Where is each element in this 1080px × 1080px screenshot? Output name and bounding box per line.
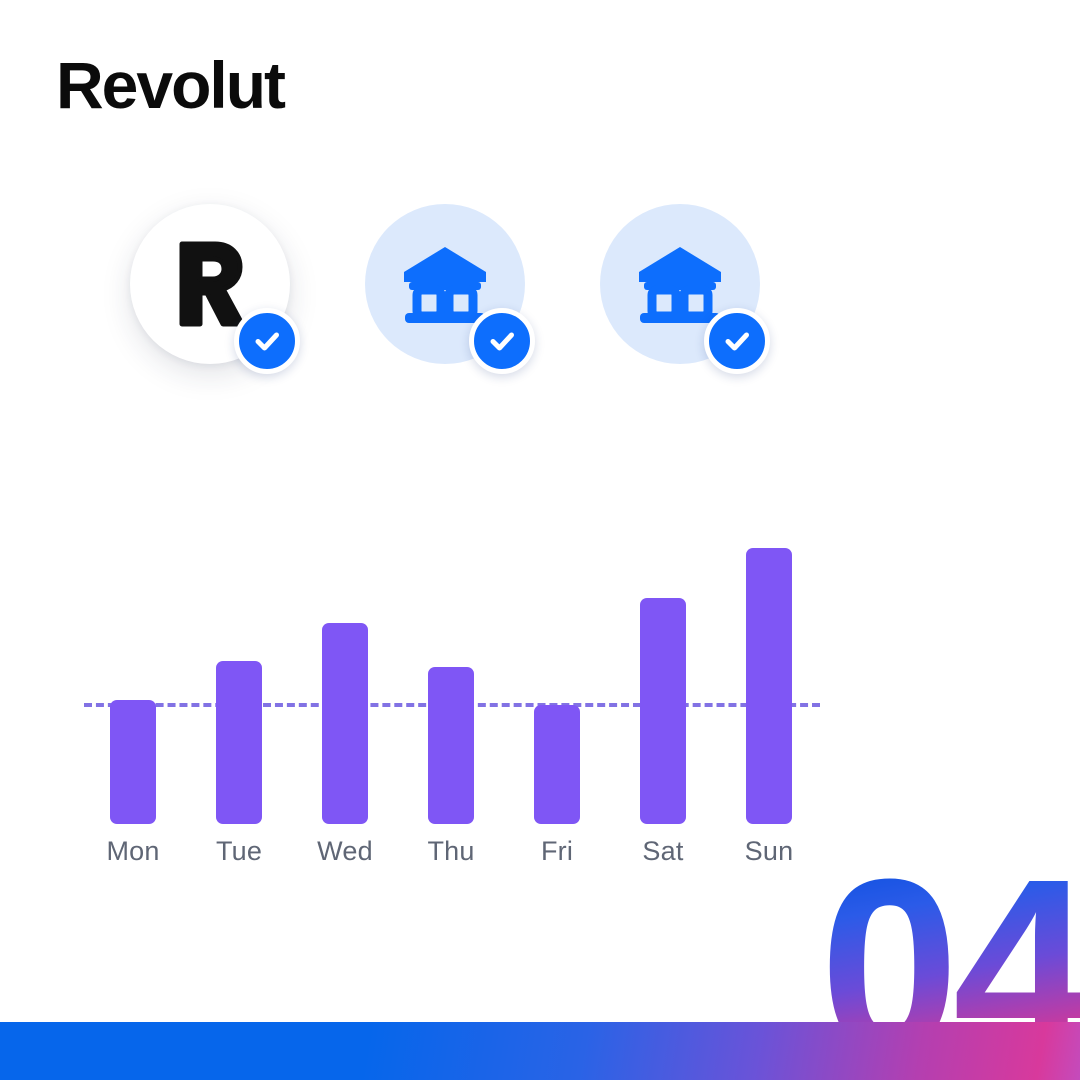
chart-x-label: Sun [724, 836, 814, 867]
slide-canvas: Revolut [0, 0, 1080, 1080]
chart-bar[interactable] [216, 661, 262, 824]
chart-x-label: Sat [618, 836, 708, 867]
weekly-spending-chart: MonTueWedThuFriSatSun [84, 548, 844, 888]
footer-gradient-bar [0, 1022, 1080, 1080]
chart-x-axis-labels: MonTueWedThuFriSatSun [84, 836, 844, 880]
chart-plot-area [84, 548, 844, 824]
chart-x-label: Fri [512, 836, 602, 867]
verified-check-icon [704, 308, 770, 374]
chart-x-label: Mon [88, 836, 178, 867]
chart-bar[interactable] [428, 667, 474, 824]
chart-bar[interactable] [640, 598, 686, 824]
chart-x-label: Tue [194, 836, 284, 867]
account-badge-revolut[interactable] [130, 204, 290, 364]
chart-bar[interactable] [746, 548, 792, 824]
account-badge-bank-2[interactable] [600, 204, 760, 364]
verified-check-icon [469, 308, 535, 374]
chart-bar[interactable] [534, 705, 580, 824]
linked-accounts-row [130, 204, 830, 394]
chart-x-label: Thu [406, 836, 496, 867]
chart-x-label: Wed [300, 836, 390, 867]
account-badge-bank-1[interactable] [365, 204, 525, 364]
chart-bar[interactable] [322, 623, 368, 824]
brand-wordmark: Revolut [56, 52, 284, 118]
chart-bar[interactable] [110, 700, 156, 824]
verified-check-icon [234, 308, 300, 374]
